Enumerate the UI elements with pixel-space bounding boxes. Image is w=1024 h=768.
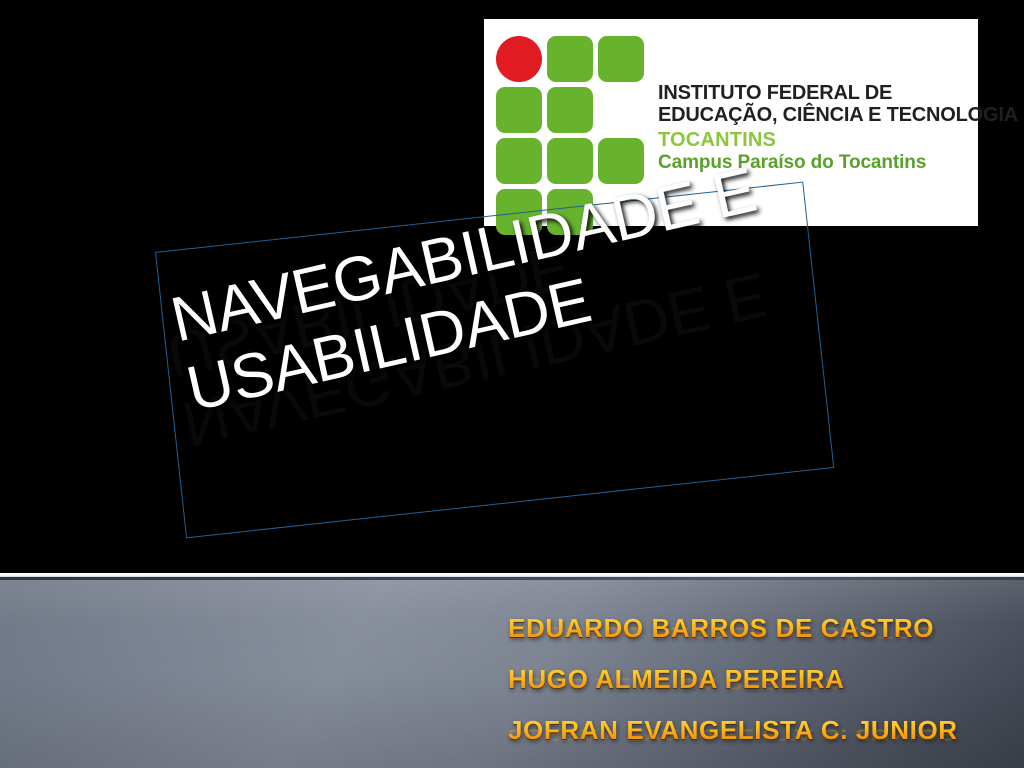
author-list: EDUARDO BARROS DE CASTRO EDUARDO BARROS … <box>508 612 1008 765</box>
logo-line-instituto: INSTITUTO FEDERAL DE <box>658 83 1018 105</box>
logo-square-icon <box>547 87 593 133</box>
logo-square-icon <box>496 138 542 184</box>
list-item: JOFRAN EVANGELISTA C. JUNIOR JOFRAN EVAN… <box>508 714 1008 765</box>
logo-line-tocantins: TOCANTINS <box>658 130 1018 152</box>
logo-line-educacao: EDUCAÇÃO, CIÊNCIA E TECNOLOGIA <box>658 105 1018 127</box>
author-name: HUGO ALMEIDA PEREIRA <box>508 663 1008 695</box>
list-item: HUGO ALMEIDA PEREIRA HUGO ALMEIDA PEREIR… <box>508 663 1008 714</box>
logo-dot-icon <box>496 36 542 82</box>
list-item: EDUARDO BARROS DE CASTRO EDUARDO BARROS … <box>508 612 1008 663</box>
logo-square-icon <box>598 36 644 82</box>
title-block: NAVEGABILIDADE E USABILIDADE NAVEGABILID… <box>155 182 835 541</box>
slide-top-area: INSTITUTO FEDERAL DE EDUCAÇÃO, CIÊNCIA E… <box>0 0 1024 573</box>
logo-empty-cell <box>598 87 644 133</box>
logo-square-icon <box>547 138 593 184</box>
author-name: JOFRAN EVANGELISTA C. JUNIOR <box>508 714 1008 746</box>
logo-square-icon <box>496 87 542 133</box>
logo-square-icon <box>547 36 593 82</box>
logo-square-icon <box>598 138 644 184</box>
author-name: EDUARDO BARROS DE CASTRO <box>508 612 1008 644</box>
presentation-slide: INSTITUTO FEDERAL DE EDUCAÇÃO, CIÊNCIA E… <box>0 0 1024 768</box>
ifto-logo-wordmark: INSTITUTO FEDERAL DE EDUCAÇÃO, CIÊNCIA E… <box>658 83 1018 173</box>
